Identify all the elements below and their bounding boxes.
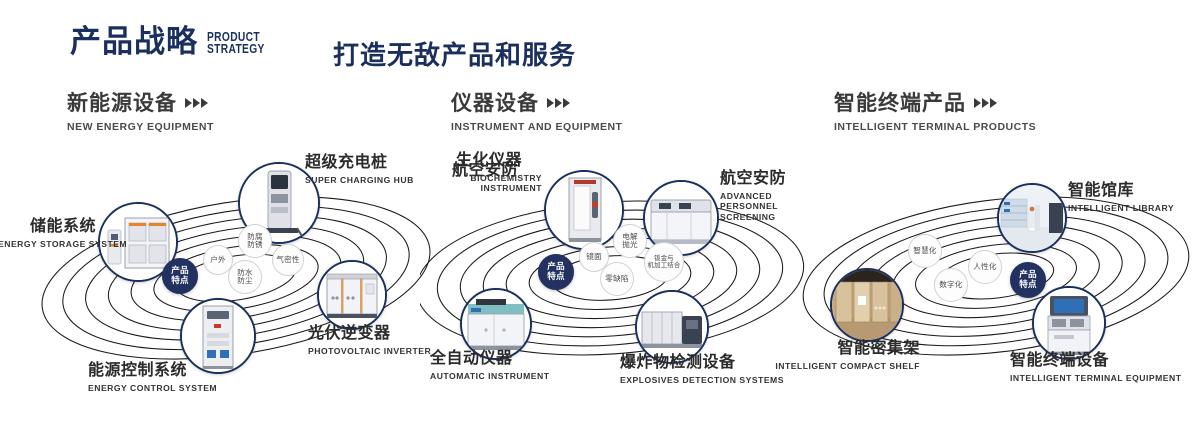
label-intelligent-library: 智能馆库 INTELLIGENT LIBRARY: [1068, 182, 1174, 213]
node-explosives-detection[interactable]: [635, 290, 709, 364]
node-intelligent-library[interactable]: [997, 183, 1067, 253]
photovoltaic-inverter-photo: [319, 262, 385, 328]
feature-bubble-electropolishing: 电解 抛光: [613, 224, 647, 258]
page-title-en-line2: STRATEGY: [207, 43, 265, 55]
section-heading-cn: 智能终端产品: [834, 92, 966, 116]
section-heading-en: NEW ENERGY EQUIPMENT: [67, 121, 214, 133]
label-automatic-instrument: 全自动仪器 AUTOMATIC INSTRUMENT: [430, 350, 549, 381]
cluster-new-energy: 储能系统 ENERGY STORAGE SYSTEM 超级充电桩 SUPER C…: [40, 150, 440, 410]
label-super-charging-hub: 超级充电桩 SUPER CHARGING HUB: [305, 154, 414, 185]
section-heading-cn: 仪器设备: [451, 92, 539, 116]
feature-bubble-waterproof: 防水 防尘: [228, 260, 262, 294]
security-gate-photo: [546, 172, 622, 248]
automatic-instrument-photo: [462, 290, 530, 358]
core-bubble-product-features: 产品 特点: [538, 254, 574, 290]
section-heading-instrument: 仪器设备 INSTRUMENT AND EQUIPMENT: [451, 92, 622, 133]
label-photovoltaic-inverter: 光伏逆变器 PHOTOVOLTAIC INVERTER: [308, 325, 431, 356]
node-biochemistry-instrument[interactable]: [544, 170, 624, 250]
feature-bubble-sheetmetal-machining: 钣金与 机加工结合: [644, 242, 684, 282]
node-photovoltaic-inverter[interactable]: [317, 260, 387, 330]
label-energy-control-system: 能源控制系统 ENERGY CONTROL SYSTEM: [88, 362, 217, 393]
feature-bubble-zero-defect: 零缺陷: [600, 262, 634, 296]
intelligent-compact-shelf-photo: [832, 270, 902, 340]
label-explosives-detection: 爆炸物检测设备 EXPLOSIVES DETECTION SYSTEMS: [620, 354, 784, 385]
node-intelligent-compact-shelf[interactable]: [830, 268, 904, 342]
cluster-intelligent-terminal: 智能馆库 INTELLIGENT LIBRARY 智能密集架 INTELLIGE…: [800, 150, 1200, 410]
feature-bubble-anticorrosion: 防腐 防锈: [238, 224, 272, 258]
section-heading-intelligent-terminal: 智能终端产品 INTELLIGENT TERMINAL PRODUCTS: [834, 92, 1036, 133]
core-bubble-product-features: 产品 特点: [1010, 262, 1046, 298]
feature-bubble-smart: 智慧化: [908, 234, 942, 268]
page-subtitle: 打造无敌产品和服务: [333, 35, 576, 72]
section-heading-en: INSTRUMENT AND EQUIPMENT: [451, 121, 622, 133]
section-heading-cn: 新能源设备: [67, 92, 177, 116]
feature-bubble-digital: 数字化: [934, 268, 968, 302]
label-intelligent-compact-shelf: 智能密集架 INTELLIGENT COMPACT SHELF: [770, 340, 920, 371]
intelligent-library-photo: [999, 185, 1065, 251]
feature-bubble-airtightness: 气密性: [272, 244, 304, 276]
chevron-right-icon: [974, 98, 997, 110]
feature-bubble-humanized: 人性化: [968, 250, 1002, 284]
chevron-right-icon: [547, 98, 570, 110]
node-intelligent-terminal-equipment[interactable]: [1032, 286, 1106, 360]
page-title-en: PRODUCT STRATEGY: [207, 28, 265, 55]
label-biochemistry-instrument: 生化仪器 BIOCHEMISTRY INSTRUMENT: [456, 152, 542, 194]
chevron-right-icon: [185, 98, 208, 110]
product-strategy-infographic: 产品战略 PRODUCT STRATEGY 打造无敌产品和服务 新能源设备 NE…: [0, 0, 1200, 422]
cluster-instrument: 航空安防 生化仪器 BIOCHEMISTRY INSTRUMENT 航空安防 A…: [420, 150, 820, 410]
label-energy-storage-system: 储能系统 ENERGY STORAGE SYSTEM: [0, 218, 96, 249]
explosives-detection-photo: [637, 292, 707, 362]
section-heading-new-energy: 新能源设备 NEW ENERGY EQUIPMENT: [67, 92, 214, 133]
page-title-cn: 产品战略: [70, 26, 198, 57]
intelligent-terminal-equipment-photo: [1034, 288, 1104, 358]
core-bubble-product-features: 产品 特点: [162, 258, 198, 294]
label-intelligent-terminal-equipment: 智能终端设备 INTELLIGENT TERMINAL EQUIPMENT: [1010, 352, 1181, 383]
page-title: 产品战略 PRODUCT STRATEGY: [70, 26, 277, 57]
section-heading-en: INTELLIGENT TERMINAL PRODUCTS: [834, 121, 1036, 133]
